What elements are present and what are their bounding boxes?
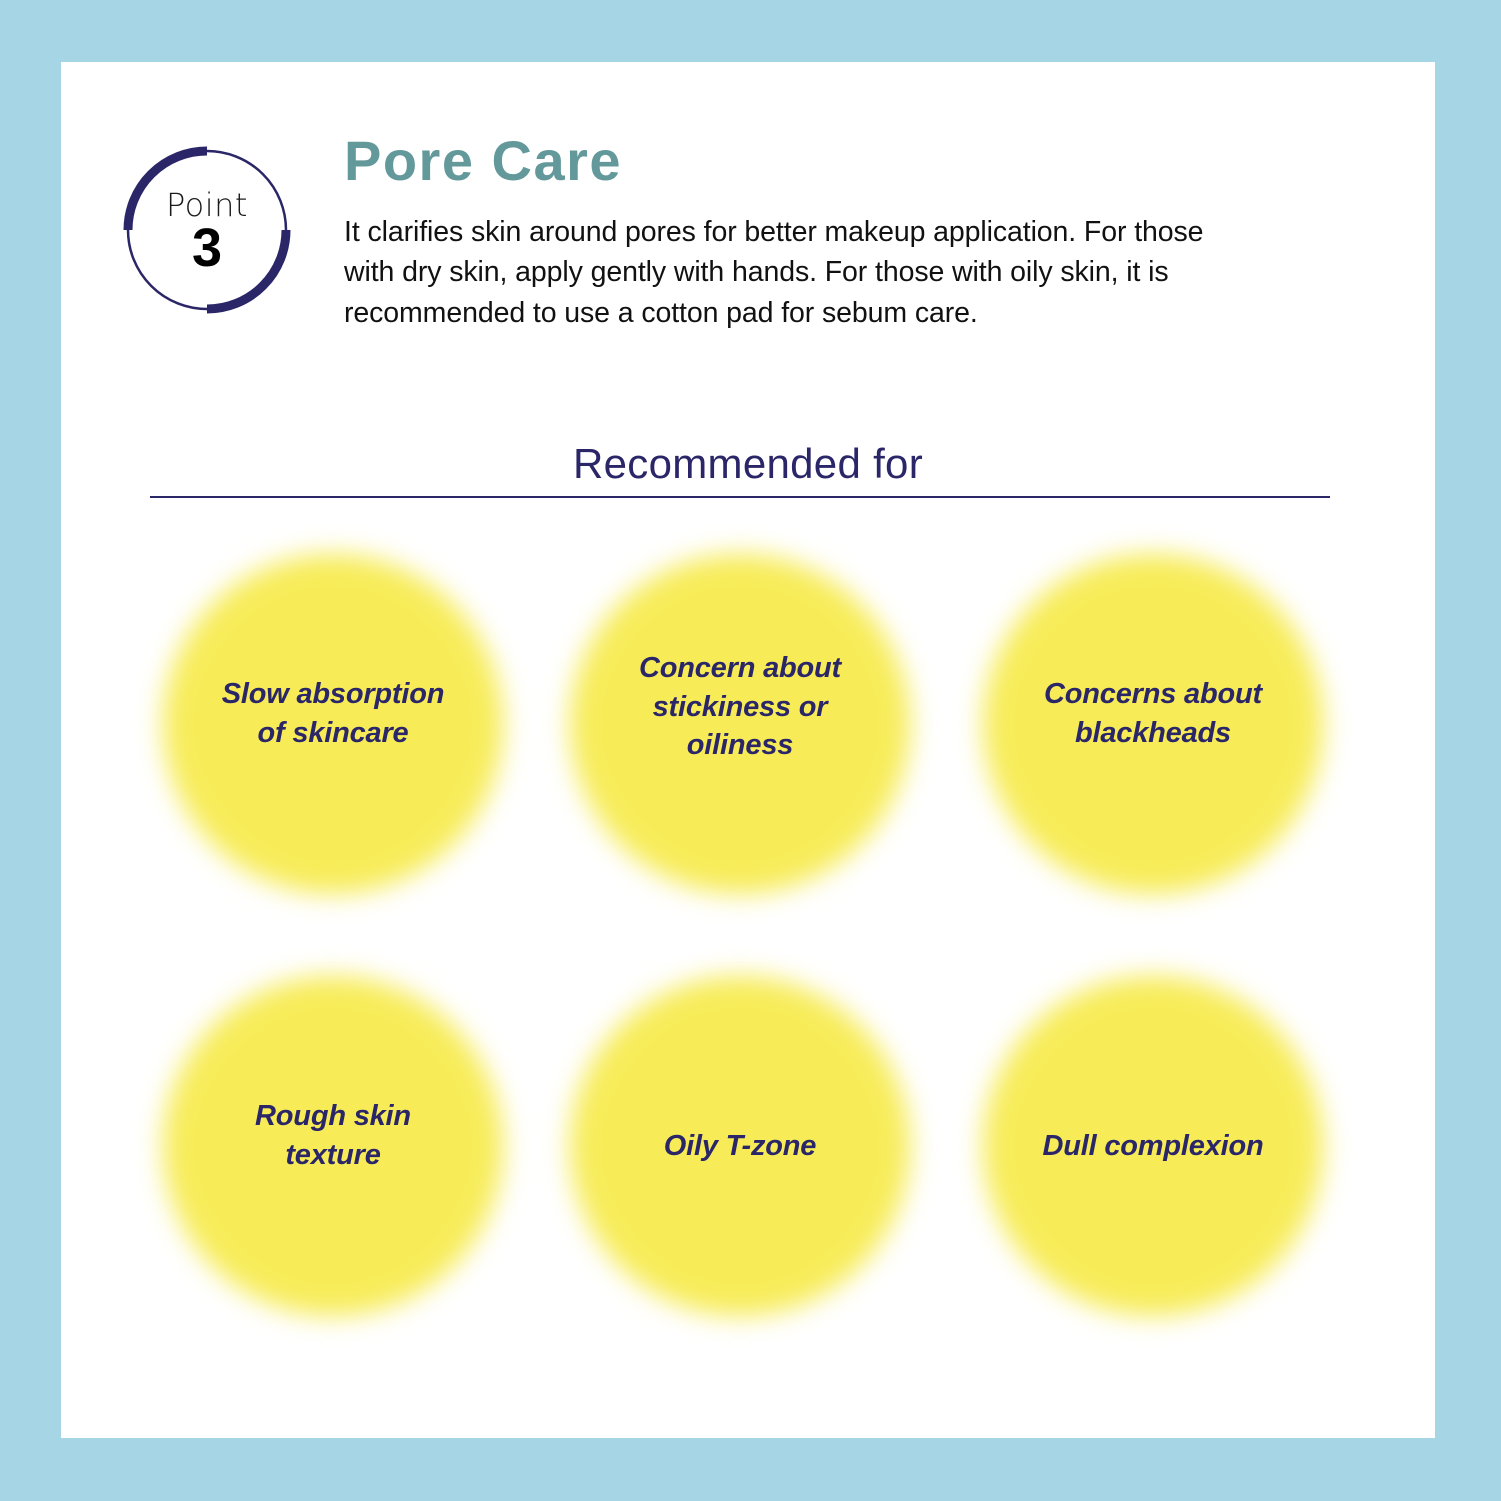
header-text-block: Pore Care It clarifies skin around pores…: [344, 130, 1344, 333]
bubble-row: Rough skin texture Oily T-zone Dull comp…: [61, 964, 1435, 1364]
recommended-divider: [150, 496, 1330, 498]
bubble-label: Concern about stickiness or oiliness: [570, 554, 910, 894]
bubble-label: Concerns about blackheads: [983, 554, 1323, 894]
point-badge: Point 3: [114, 137, 300, 323]
page-description: It clarifies skin around pores for bette…: [344, 212, 1244, 333]
recommended-bubble-grid: Slow absorption of skincare Concern abou…: [61, 542, 1435, 1372]
header-section: Point 3 Pore Care It clarifies skin arou…: [61, 62, 1435, 392]
content-card: Point 3 Pore Care It clarifies skin arou…: [61, 62, 1435, 1438]
point-number: 3: [192, 221, 222, 275]
recommended-heading: Recommended for: [61, 440, 1435, 488]
bubble-label: Dull complexion: [983, 976, 1323, 1316]
bubble-label: Oily T-zone: [570, 976, 910, 1316]
bubble-row: Slow absorption of skincare Concern abou…: [61, 542, 1435, 942]
bubble-label: Rough skin texture: [163, 976, 503, 1316]
page-root: Point 3 Pore Care It clarifies skin arou…: [0, 0, 1501, 1501]
page-title: Pore Care: [344, 130, 1344, 192]
point-badge-text: Point 3: [114, 137, 300, 323]
bubble-label: Slow absorption of skincare: [163, 554, 503, 894]
